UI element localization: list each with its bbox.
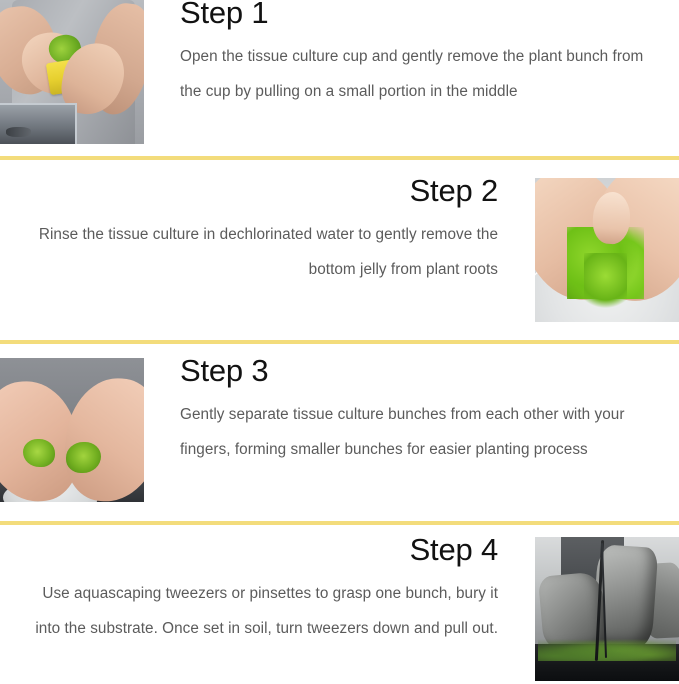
photo-rinsing-plant-in-bowl (535, 178, 679, 322)
step-2-title: Step 2 (20, 175, 498, 208)
step-3-title: Step 3 (180, 355, 660, 388)
step-2-body: Rinse the tissue culture in dechlorinate… (20, 217, 498, 288)
step-section-3: Step 3 Gently separate tissue culture bu… (0, 345, 679, 522)
step-4-title: Step 4 (20, 534, 498, 567)
step-2-photo (535, 178, 679, 322)
instruction-steps-page: Step 1 Open the tissue culture cup and g… (0, 0, 679, 684)
section-divider-2 (0, 340, 679, 344)
step-4-body: Use aquascaping tweezers or pinsettes to… (20, 576, 498, 647)
step-1-photo (0, 0, 144, 144)
photo-aquascape-rocks-planting (535, 537, 679, 681)
step-4-text-column: Step 4 Use aquascaping tweezers or pinse… (20, 534, 498, 647)
step-3-body: Gently separate tissue culture bunches f… (180, 397, 660, 468)
section-divider-3 (0, 521, 679, 525)
step-1-text-column: Step 1 Open the tissue culture cup and g… (180, 0, 660, 110)
step-1-body: Open the tissue culture cup and gently r… (180, 39, 660, 110)
step-section-1: Step 1 Open the tissue culture cup and g… (0, 0, 679, 157)
step-2-text-column: Step 2 Rinse the tissue culture in dechl… (20, 175, 498, 288)
photo-separating-plant-bunches (0, 358, 144, 502)
step-4-photo (535, 537, 679, 681)
step-3-text-column: Step 3 Gently separate tissue culture bu… (180, 355, 660, 468)
step-section-2: Step 2 Rinse the tissue culture in dechl… (0, 161, 679, 341)
step-3-photo (0, 358, 144, 502)
photo-holding-tissue-culture-cup (0, 0, 144, 144)
step-section-4: Step 4 Use aquascaping tweezers or pinse… (0, 526, 679, 684)
section-divider-1 (0, 156, 679, 160)
step-1-title: Step 1 (180, 0, 660, 30)
